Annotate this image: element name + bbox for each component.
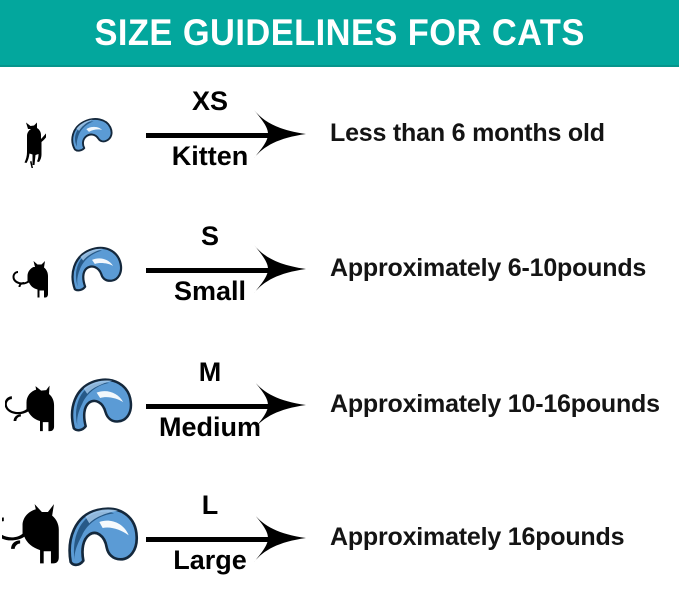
- size-name-l: Large: [146, 544, 274, 576]
- description-text-l: Approximately 16pounds: [330, 523, 624, 552]
- nail-cap-l-icon: [64, 502, 140, 574]
- description-text-xs: Less than 6 months old: [330, 119, 605, 148]
- size-guideline-rows: XS Kitten Less than 6 months old: [0, 67, 679, 599]
- cat-icon-cell-s: [0, 202, 62, 335]
- nail-cap-xs-icon: [64, 114, 116, 154]
- size-row-s: S Small Approximately 6-10pounds: [0, 202, 679, 335]
- nail-cap-cell-m: [62, 338, 140, 471]
- size-name-m: Medium: [146, 411, 274, 443]
- size-row-xs: XS Kitten Less than 6 months old: [0, 67, 679, 200]
- cat-icon-cell-xs: [0, 67, 62, 200]
- page-header-banner: SIZE GUIDELINES FOR CATS: [0, 0, 679, 67]
- size-row-l: L Large Approximately 16pounds: [0, 471, 679, 604]
- cat-silhouette-kitten-icon: [16, 122, 46, 168]
- page-title: SIZE GUIDELINES FOR CATS: [94, 14, 584, 51]
- description-cell-l: Approximately 16pounds: [320, 471, 679, 604]
- nail-cap-m-icon: [64, 376, 136, 434]
- description-cell-m: Approximately 10-16pounds: [320, 338, 679, 471]
- cat-silhouette-small-icon: [9, 259, 53, 303]
- size-name-s: Small: [146, 275, 274, 307]
- description-text-m: Approximately 10-16pounds: [330, 390, 660, 419]
- cat-icon-cell-l: [0, 471, 62, 604]
- description-text-s: Approximately 6-10pounds: [330, 254, 646, 283]
- nail-cap-cell-l: [62, 471, 140, 604]
- nail-cap-cell-s: [62, 202, 140, 335]
- cat-silhouette-large-icon: [2, 504, 60, 572]
- arrow-cell-l: L Large: [140, 471, 320, 604]
- size-row-m: M Medium Approximately 10-16pounds: [0, 338, 679, 471]
- arrow-cell-xs: XS Kitten: [140, 67, 320, 200]
- description-cell-s: Approximately 6-10pounds: [320, 202, 679, 335]
- cat-icon-cell-m: [0, 338, 62, 471]
- arrow-cell-s: S Small: [140, 202, 320, 335]
- nail-cap-cell-xs: [62, 67, 140, 200]
- arrow-cell-m: M Medium: [140, 338, 320, 471]
- nail-cap-s-icon: [64, 244, 126, 294]
- size-name-xs: Kitten: [146, 140, 274, 172]
- cat-silhouette-medium-icon: [5, 385, 57, 439]
- description-cell-xs: Less than 6 months old: [320, 67, 679, 200]
